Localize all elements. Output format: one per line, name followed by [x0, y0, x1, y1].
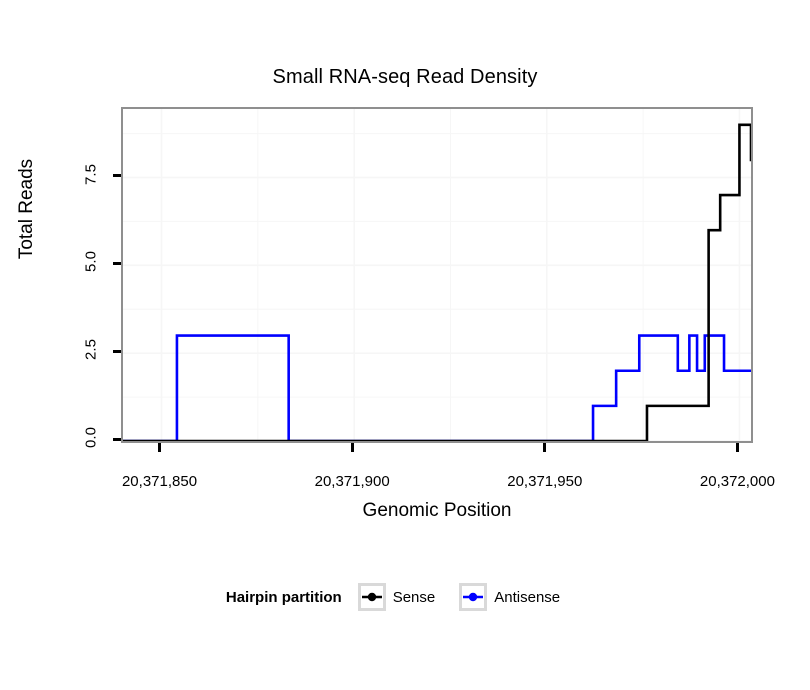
- legend-label-sense: Sense: [393, 589, 436, 606]
- x-tick-label: 20,371,900: [282, 473, 422, 490]
- legend-title: Hairpin partition: [226, 589, 342, 606]
- x-tick-mark: [543, 443, 546, 452]
- y-axis-title: Total Reads: [16, 129, 38, 289]
- y-tick: 5.0: [68, 253, 108, 273]
- y-tick-mark: [113, 174, 121, 177]
- y-tick: 0.0: [68, 429, 108, 449]
- chart-title: Small RNA-seq Read Density: [0, 66, 810, 89]
- x-axis-title: Genomic Position: [121, 500, 753, 522]
- x-tick-mark: [736, 443, 739, 452]
- legend-item-antisense[interactable]: Antisense: [459, 583, 578, 611]
- chart-root: Small RNA-seq Read Density Total Reads G…: [0, 0, 810, 690]
- y-tick-label: 5.0: [83, 245, 100, 279]
- y-tick-mark: [113, 350, 121, 353]
- x-tick-label: 20,371,850: [90, 473, 230, 490]
- legend-key-sense-icon: [358, 583, 386, 611]
- series-line-sense: [123, 125, 751, 441]
- legend: Hairpin partition Sense Antisense: [0, 583, 810, 611]
- legend-key-antisense-icon: [459, 583, 487, 611]
- y-tick-mark: [113, 262, 121, 265]
- x-tick-mark: [158, 443, 161, 452]
- x-tick-mark: [351, 443, 354, 452]
- gridlines: [123, 109, 751, 441]
- legend-label-antisense: Antisense: [494, 589, 560, 606]
- x-tick-label: 20,372,000: [667, 473, 807, 490]
- y-tick-label: 0.0: [83, 421, 100, 455]
- plot-panel: [121, 107, 753, 443]
- y-tick-label: 7.5: [83, 157, 100, 191]
- series-line-antisense: [123, 336, 751, 441]
- plot-area: [123, 109, 751, 441]
- y-tick: 2.5: [68, 341, 108, 361]
- y-tick-label: 2.5: [83, 333, 100, 367]
- legend-item-sense[interactable]: Sense: [358, 583, 454, 611]
- y-tick: 7.5: [68, 166, 108, 186]
- x-tick-label: 20,371,950: [475, 473, 615, 490]
- y-tick-mark: [113, 438, 121, 441]
